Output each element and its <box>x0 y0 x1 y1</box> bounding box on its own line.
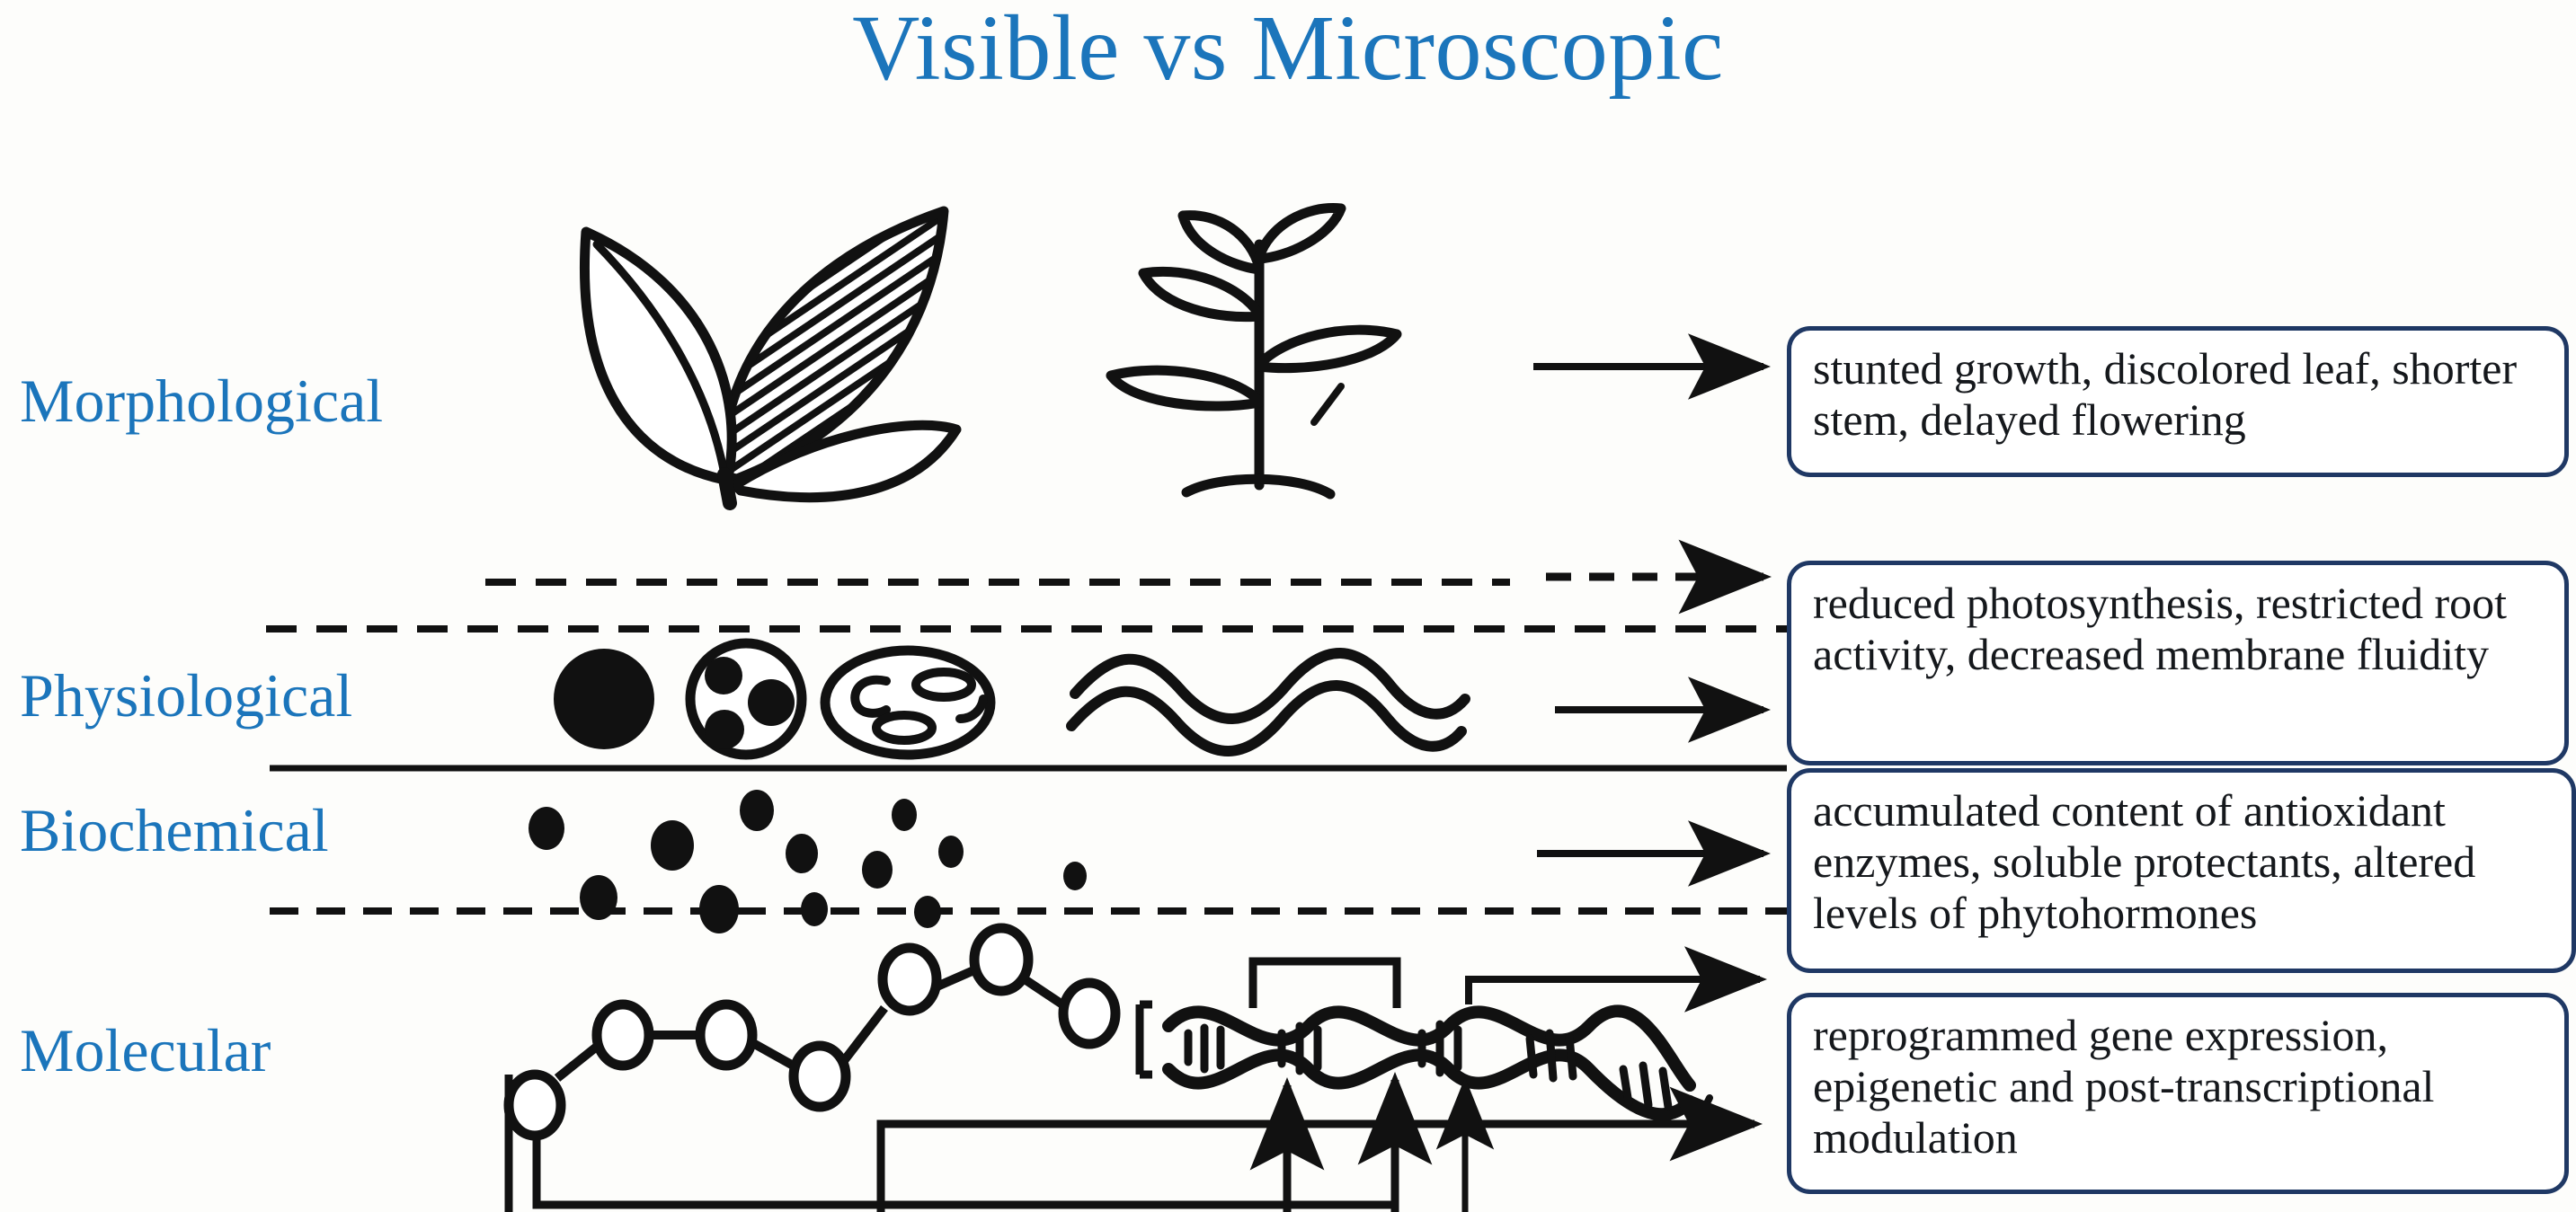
level-label-physiological: Physiological <box>20 665 352 726</box>
hatched-leaf-cluster-icon <box>584 211 956 503</box>
arrow-molecular-upper <box>1469 979 1760 1004</box>
page-title: Visible vs Microscopic <box>0 2 2576 95</box>
level-label-biochemical: Biochemical <box>20 800 329 861</box>
seedling-plant-icon <box>1111 208 1397 494</box>
molecular-top-bracket <box>1253 961 1397 1008</box>
scattered-metabolite-dots-icon <box>529 790 1087 933</box>
outcome-box-molecular: reprogrammed gene expression, epigenetic… <box>1787 993 2569 1194</box>
dna-double-helix-icon <box>1168 1011 1710 1116</box>
nucleosome-bead-chain-icon <box>509 928 1152 1136</box>
outcome-box-morphological: stunted growth, discolored leaf, shorter… <box>1787 326 2569 477</box>
level-label-molecular: Molecular <box>20 1020 271 1081</box>
chloroplast-icon <box>825 650 990 755</box>
outcome-box-biochemical: accumulated content of antioxidant enzym… <box>1787 768 2576 973</box>
cell-with-organelles-icon <box>690 643 802 755</box>
membrane-bilayer-wave-icon <box>1071 653 1465 751</box>
level-label-morphological: Morphological <box>20 370 383 431</box>
outcome-box-physiological: reduced photosynthesis, restricted root … <box>1787 561 2569 765</box>
feedback-loop-lines <box>509 1075 1754 1212</box>
filled-nucleus-icon <box>554 649 654 749</box>
diagram-canvas: Visible vs Microscopic Morphological Phy… <box>0 0 2576 1212</box>
